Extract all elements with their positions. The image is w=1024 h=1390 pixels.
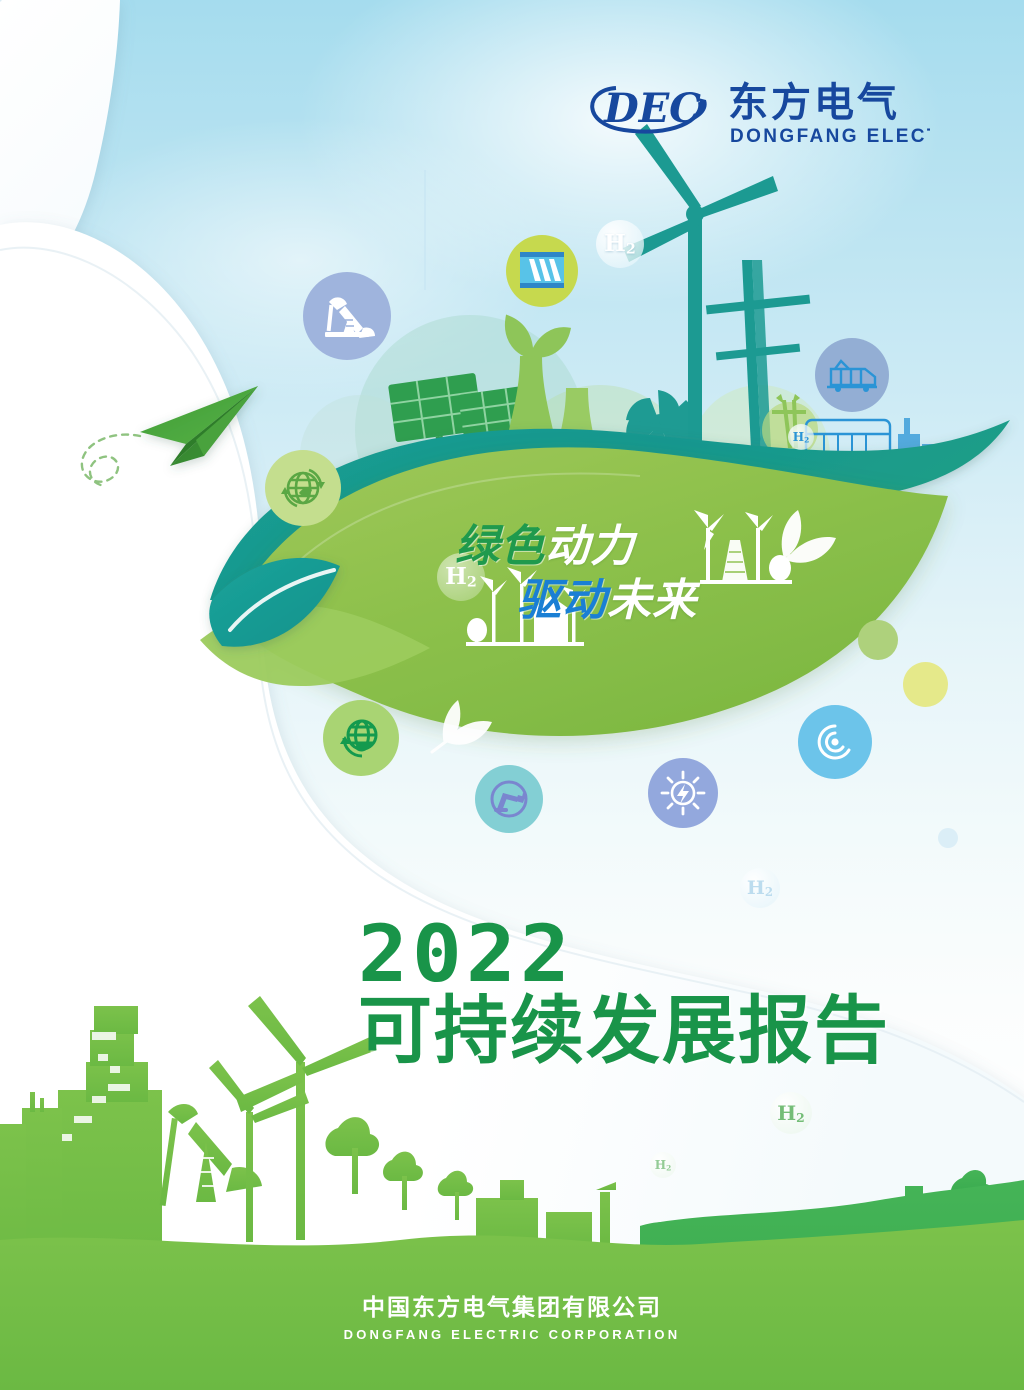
slogan-part-2: 动力 (545, 525, 635, 569)
turbine-spiral-icon[interactable] (798, 705, 872, 779)
oil-pumpjack-glyph (319, 288, 375, 344)
footer-company-en: DONGFANG ELECTRIC CORPORATION (0, 1327, 1024, 1342)
report-year: 2022 (358, 920, 952, 992)
h2-bubble-below-leaf: H2 (740, 868, 780, 908)
robot-arm-glyph (485, 775, 533, 823)
report-title-block: 2022 可持续发展报告 (358, 920, 918, 1068)
brand-name-en-text: DONGFANG ELECTRIC (730, 126, 930, 147)
h2-bubble-skyline-large: H2 (770, 1092, 812, 1134)
h2-bubble-sky: H2 (596, 220, 644, 268)
globe-leaf-icon[interactable] (323, 700, 399, 776)
slogan-line-1: 绿色 动力 (455, 525, 875, 569)
slogan-part-3: 驱动 (517, 579, 607, 623)
h2-bubble-skyline-small: H2 (650, 1152, 676, 1178)
turbine-spiral-glyph (809, 716, 861, 768)
solar-power-glyph (658, 768, 708, 818)
h2-label: H2 (604, 230, 636, 258)
globe-recycle-glyph (278, 463, 328, 513)
h2-label: H2 (747, 877, 773, 899)
solar-power-icon[interactable] (648, 758, 718, 828)
h2-bubble-bus: H2 (788, 424, 814, 450)
globe-leaf-glyph (335, 712, 387, 764)
dec-wordmark: DEC (603, 85, 701, 132)
globe-recycle-icon[interactable] (265, 450, 341, 526)
report-cover-page: H2 H2 H2 H2 H2 H2 DEC 东方电气 DONGFANG ELEC… (0, 0, 1024, 1390)
slogan-part-1: 绿色 (455, 525, 545, 569)
h2-label: H2 (655, 1158, 672, 1172)
slogan-block: 绿色 动力 驱动 未来 (455, 525, 875, 650)
h2-label: H2 (793, 430, 810, 444)
slogan-part-4: 未来 (607, 579, 697, 623)
robot-arm-icon[interactable] (475, 765, 543, 833)
footer-company-cn: 中国东方电气集团有限公司 (0, 1288, 1024, 1322)
h2-label: H2 (777, 1101, 805, 1125)
white-swoosh-decoration (0, 0, 1024, 1390)
footer-block: 中国东方电气集团有限公司 DONGFANG ELECTRIC CORPORATI… (0, 1288, 1024, 1342)
hydro-dam-glyph (517, 249, 567, 293)
electric-train-glyph (825, 355, 879, 395)
decor-dot-pale (938, 828, 958, 848)
slogan-line-2: 驱动 未来 (517, 579, 875, 623)
dec-logo-graphic: DEC 东方电气 DONGFANG ELECTRIC (580, 72, 930, 150)
electric-train-icon[interactable] (815, 338, 889, 412)
decor-dot-yellow (903, 662, 948, 707)
hydro-dam-icon[interactable] (506, 235, 578, 307)
dec-logo[interactable]: DEC 东方电气 DONGFANG ELECTRIC (580, 72, 930, 150)
oil-pumpjack-icon[interactable] (303, 272, 391, 360)
report-heading: 可持续发展报告 (358, 994, 918, 1068)
brand-name-cn-text: 东方电气 (728, 80, 900, 126)
